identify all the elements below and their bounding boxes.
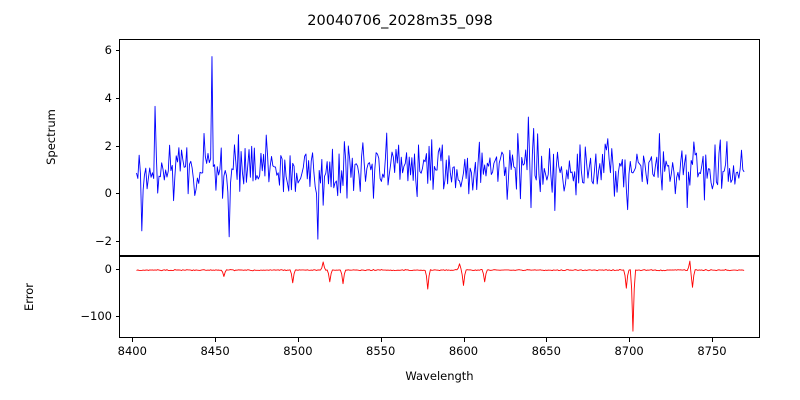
- y-tick-mark: [116, 98, 120, 99]
- y-tick-mark: [116, 316, 120, 317]
- x-tick-label: 8600: [449, 344, 478, 358]
- y-tick-label: −2: [59, 234, 112, 248]
- x-tick-label: 8400: [118, 344, 147, 358]
- x-tick-mark: [629, 338, 630, 342]
- x-tick-label: 8700: [614, 344, 643, 358]
- x-tick-mark: [712, 338, 713, 342]
- x-tick-label: 8550: [366, 344, 395, 358]
- y-tick-label: 6: [59, 43, 112, 57]
- y-tick-mark: [116, 241, 120, 242]
- figure-title: 20040706_2028m35_098: [0, 13, 800, 29]
- y-tick-label: −100: [59, 309, 112, 323]
- x-tick-mark: [381, 338, 382, 342]
- x-tick-label: 8500: [283, 344, 312, 358]
- y-tick-mark: [116, 146, 120, 147]
- y-tick-mark: [116, 269, 120, 270]
- figure-canvas: 20040706_2028m35_098 Spectrum −20246 Err…: [0, 0, 800, 400]
- error-y-axis-label: Error: [22, 247, 36, 347]
- x-tick-mark: [132, 338, 133, 342]
- x-axis-label: Wavelength: [119, 369, 760, 383]
- x-tick-label: 8650: [532, 344, 561, 358]
- spectrum-line-series: [120, 40, 759, 255]
- x-tick-label: 8450: [200, 344, 229, 358]
- x-tick-mark: [298, 338, 299, 342]
- error-plot-area: [119, 256, 760, 338]
- y-tick-label: 4: [59, 91, 112, 105]
- spectrum-y-axis-label: Spectrum: [44, 77, 58, 197]
- y-tick-label: 0: [59, 186, 112, 200]
- x-tick-mark: [464, 338, 465, 342]
- x-tick-mark: [215, 338, 216, 342]
- y-tick-mark: [116, 193, 120, 194]
- y-tick-mark: [116, 50, 120, 51]
- y-tick-label: 2: [59, 139, 112, 153]
- spectrum-plot-area: [119, 39, 760, 256]
- x-tick-label: 8750: [697, 344, 726, 358]
- x-tick-mark: [546, 338, 547, 342]
- y-tick-label: 0: [59, 262, 112, 276]
- error-line-series: [120, 257, 759, 337]
